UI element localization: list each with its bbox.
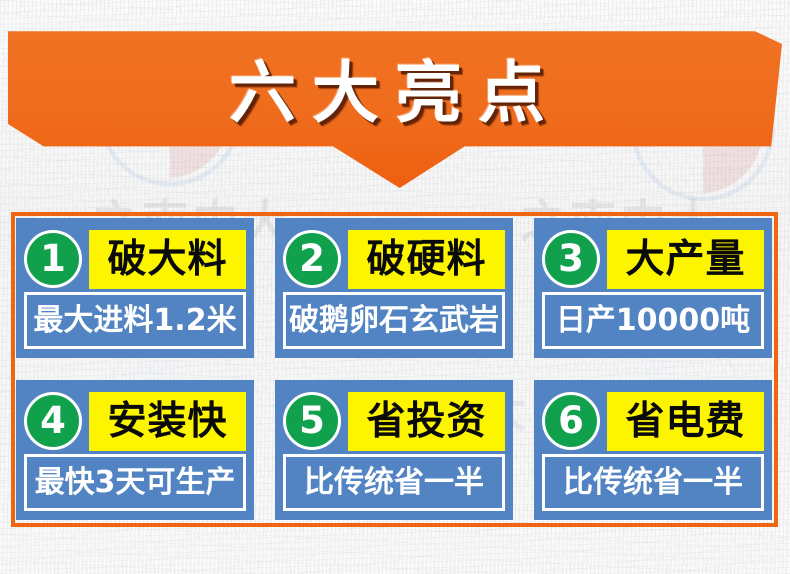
feature-number-badge: 2 — [283, 230, 341, 288]
feature-headline: 省电费 — [607, 392, 764, 451]
feature-card: 1 破大料 最大进料1.2米 — [16, 218, 254, 358]
feature-card-top: 5 省投资 — [283, 388, 505, 454]
feature-number-badge: 3 — [542, 230, 600, 288]
feature-headline: 大产量 — [607, 230, 764, 289]
feature-headline: 破硬料 — [348, 230, 505, 289]
feature-card-top: 3 大产量 — [542, 226, 764, 292]
feature-grid: 1 破大料 最大进料1.2米 2 破硬料 破鹅卵石玄武岩 3 大产量 日产100… — [16, 218, 773, 521]
feature-card: 4 安装快 最快3天可生产 — [16, 380, 254, 520]
feature-card-top: 2 破硬料 — [283, 226, 505, 292]
feature-number-badge: 5 — [283, 392, 341, 450]
feature-headline: 破大料 — [89, 230, 246, 289]
feature-number-badge: 4 — [24, 392, 82, 450]
feature-card: 5 省投资 比传统省一半 — [275, 380, 513, 520]
feature-subtext: 最大进料1.2米 — [24, 292, 246, 349]
feature-subtext: 比传统省一半 — [542, 454, 764, 511]
feature-subtext: 最快3天可生产 — [24, 454, 246, 511]
feature-card: 2 破硬料 破鹅卵石玄武岩 — [275, 218, 513, 358]
feature-subtext: 比传统省一半 — [283, 454, 505, 511]
feature-headline: 省投资 — [348, 392, 505, 451]
feature-card-top: 4 安装快 — [24, 388, 246, 454]
feature-card: 3 大产量 日产10000吨 — [534, 218, 772, 358]
feature-subtext: 日产10000吨 — [542, 292, 764, 349]
banner-title: 六大亮点 — [8, 40, 782, 135]
feature-number-badge: 6 — [542, 392, 600, 450]
feature-headline: 安装快 — [89, 392, 246, 451]
promo-graphic: 之南中大 之南中大 之南中大 之南中大 六大亮点 1 破大料 最大进料1.2米 … — [0, 0, 790, 574]
feature-card-top: 6 省电费 — [542, 388, 764, 454]
feature-subtext: 破鹅卵石玄武岩 — [283, 292, 505, 349]
feature-card: 6 省电费 比传统省一半 — [534, 380, 772, 520]
feature-number-badge: 1 — [24, 230, 82, 288]
feature-card-top: 1 破大料 — [24, 226, 246, 292]
